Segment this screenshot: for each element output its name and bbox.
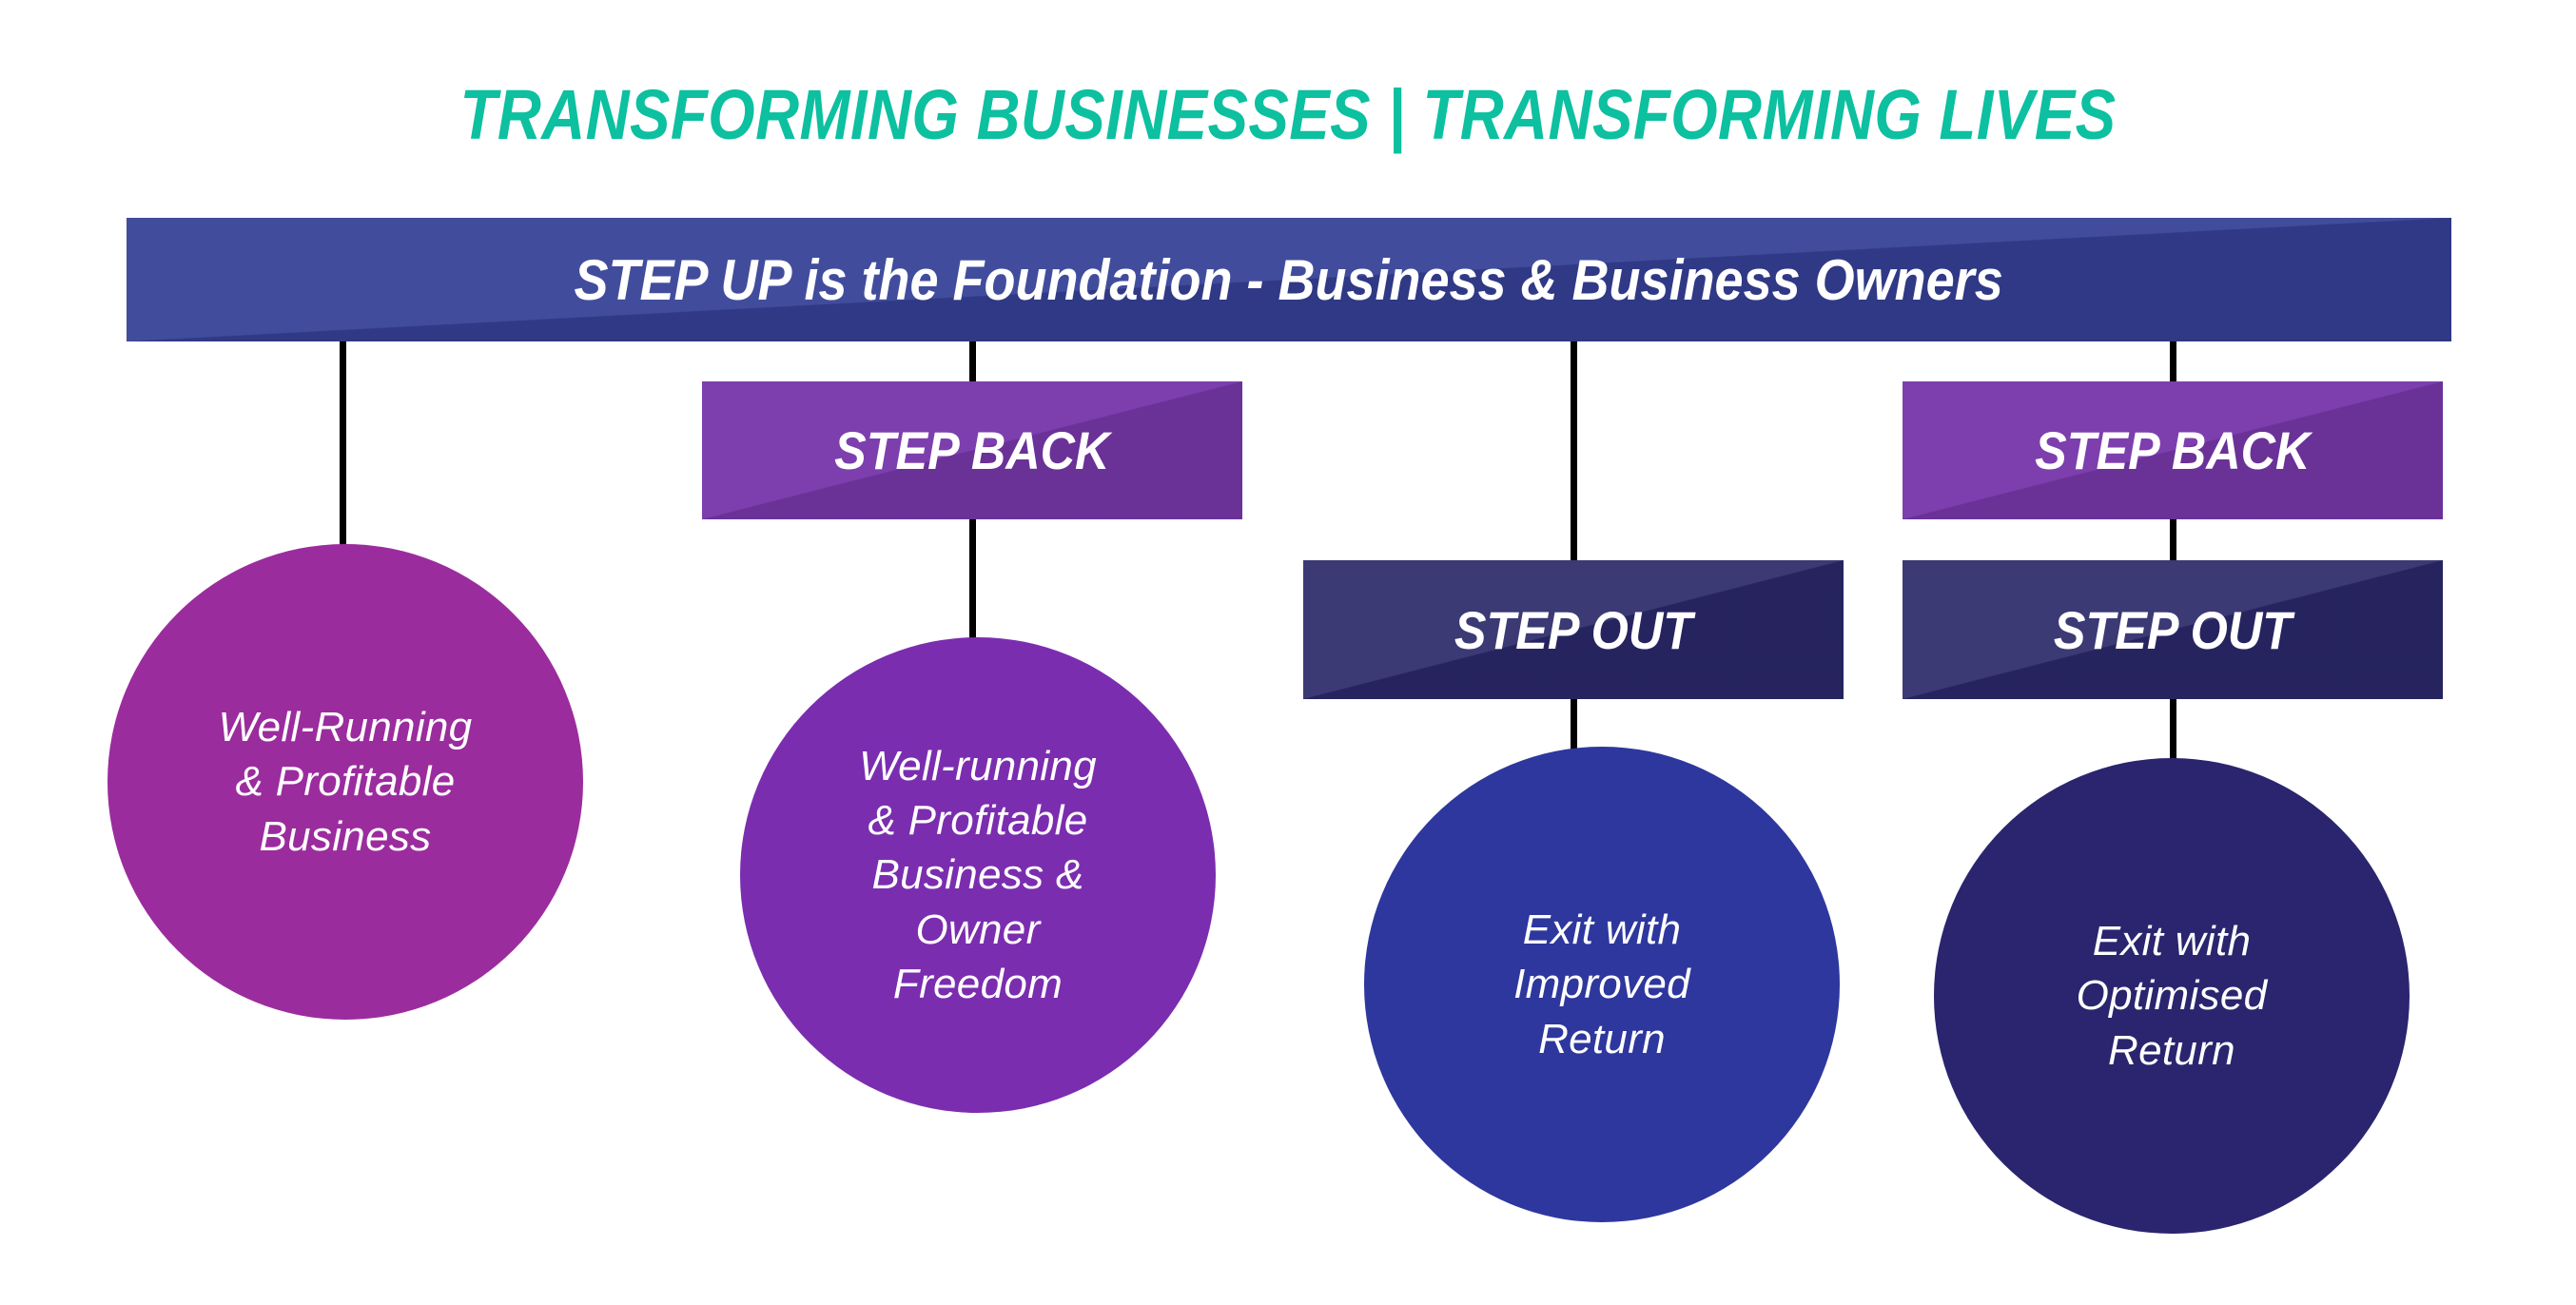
step-out-box-stage-4[interactable]: STEP OUT bbox=[1903, 560, 2443, 699]
diagram-canvas: TRANSFORMING BUSINESSES | TRANSFORMING L… bbox=[0, 0, 2576, 1305]
step-back-label-stage-2: STEP BACK bbox=[834, 419, 1109, 481]
outcome-circle-stage-3[interactable]: Exit with Improved Return bbox=[1364, 747, 1840, 1222]
outcome-circle-stage-4[interactable]: Exit with Optimised Return bbox=[1934, 758, 2410, 1234]
page-title: TRANSFORMING BUSINESSES | TRANSFORMING L… bbox=[181, 74, 2396, 155]
step-back-box-stage-2[interactable]: STEP BACK bbox=[702, 381, 1242, 519]
connector-line-stage-3-to-box bbox=[1571, 341, 1577, 569]
step-back-box-stage-4[interactable]: STEP BACK bbox=[1903, 381, 2443, 519]
outcome-label-stage-2: Well-running & Profitable Business & Own… bbox=[821, 739, 1135, 1011]
step-out-box-stage-3[interactable]: STEP OUT bbox=[1303, 560, 1844, 699]
outcome-label-stage-4: Exit with Optimised Return bbox=[2039, 914, 2306, 1078]
outcome-circle-stage-1[interactable]: Well-Running & Profitable Business bbox=[107, 544, 583, 1020]
step-back-label-stage-4: STEP BACK bbox=[2035, 419, 2310, 481]
foundation-banner-label: STEP UP is the Foundation - Business & B… bbox=[575, 247, 2003, 313]
outcome-label-stage-3: Exit with Improved Return bbox=[1475, 903, 1728, 1066]
connector-line-stage-2-to-circle bbox=[969, 514, 976, 656]
step-out-label-stage-4: STEP OUT bbox=[2054, 599, 2292, 661]
step-out-label-stage-3: STEP OUT bbox=[1454, 599, 1692, 661]
foundation-banner[interactable]: STEP UP is the Foundation - Business & B… bbox=[127, 218, 2451, 341]
connector-line-stage-1 bbox=[340, 341, 346, 559]
outcome-label-stage-1: Well-Running & Profitable Business bbox=[181, 700, 511, 864]
outcome-circle-stage-2[interactable]: Well-running & Profitable Business & Own… bbox=[740, 637, 1216, 1113]
